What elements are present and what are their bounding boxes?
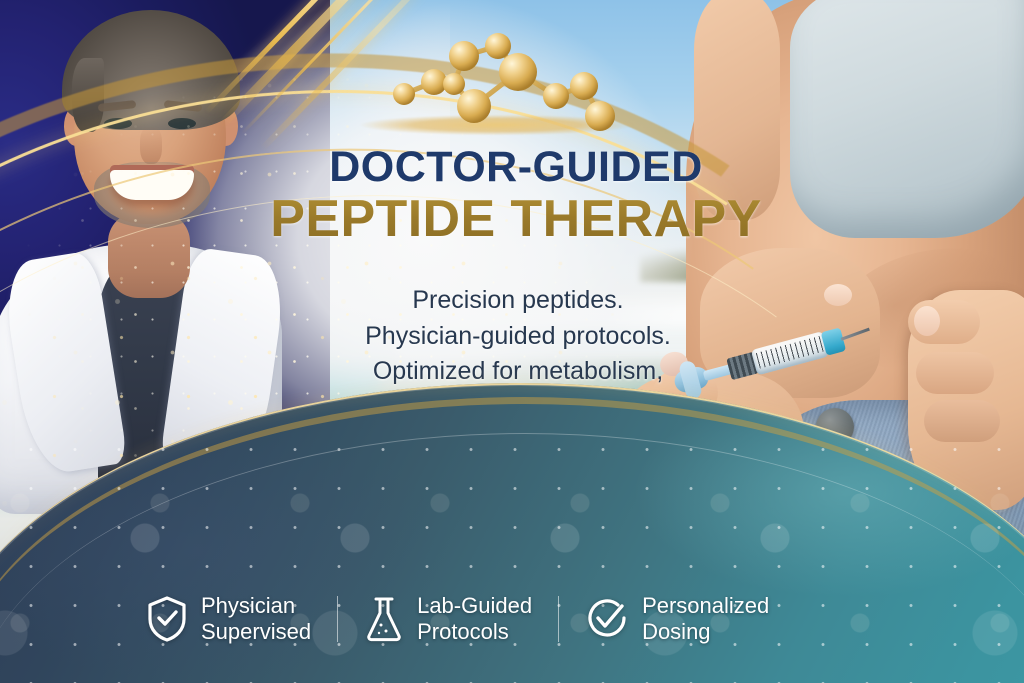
headline-block: DOCTOR-GUIDED PEPTIDE THERAPY xyxy=(236,146,796,246)
body-line: Precision peptides. xyxy=(268,283,768,319)
badge-line-2: Protocols xyxy=(417,619,532,645)
nose xyxy=(140,126,162,164)
badge-label: Personalized Dosing xyxy=(642,593,769,645)
eye xyxy=(104,118,132,129)
headline-line-1: DOCTOR-GUIDED xyxy=(236,146,796,190)
peptide-molecule-icon xyxy=(376,18,644,138)
molecule-svg xyxy=(376,18,644,138)
headline-line-2: PEPTIDE THERAPY xyxy=(236,192,796,246)
badge-label: Physician Supervised xyxy=(201,593,311,645)
peptide-therapy-banner: DOCTOR-GUIDED PEPTIDE THERAPY Precision … xyxy=(0,0,1024,683)
badge-physician-supervised: Physician Supervised xyxy=(146,593,311,645)
finger xyxy=(924,400,1000,442)
badge-lab-guided-protocols: Lab-Guided Protocols xyxy=(364,593,532,645)
shield-check-icon xyxy=(146,595,188,643)
badge-divider xyxy=(558,596,559,642)
smile xyxy=(110,170,194,200)
finger xyxy=(916,352,994,394)
badge-personalized-dosing: Personalized Dosing xyxy=(585,593,769,645)
circle-check-icon xyxy=(585,597,629,641)
fingernail xyxy=(824,284,852,306)
trust-badges: Physician Supervised Lab-Guided Protocol… xyxy=(140,584,900,654)
badge-line-2: Supervised xyxy=(201,619,311,645)
badge-line-1: Physician xyxy=(201,593,311,619)
badge-line-2: Dosing xyxy=(642,619,769,645)
eye xyxy=(168,118,196,129)
badge-line-1: Personalized xyxy=(642,593,769,619)
badge-line-1: Lab-Guided xyxy=(417,593,532,619)
flask-icon xyxy=(364,595,404,643)
badge-label: Lab-Guided Protocols xyxy=(417,593,532,645)
crop-top-garment xyxy=(790,0,1024,238)
badge-divider xyxy=(337,596,338,642)
fingernail xyxy=(914,306,940,336)
body-line: Physician-guided protocols. xyxy=(268,319,768,355)
